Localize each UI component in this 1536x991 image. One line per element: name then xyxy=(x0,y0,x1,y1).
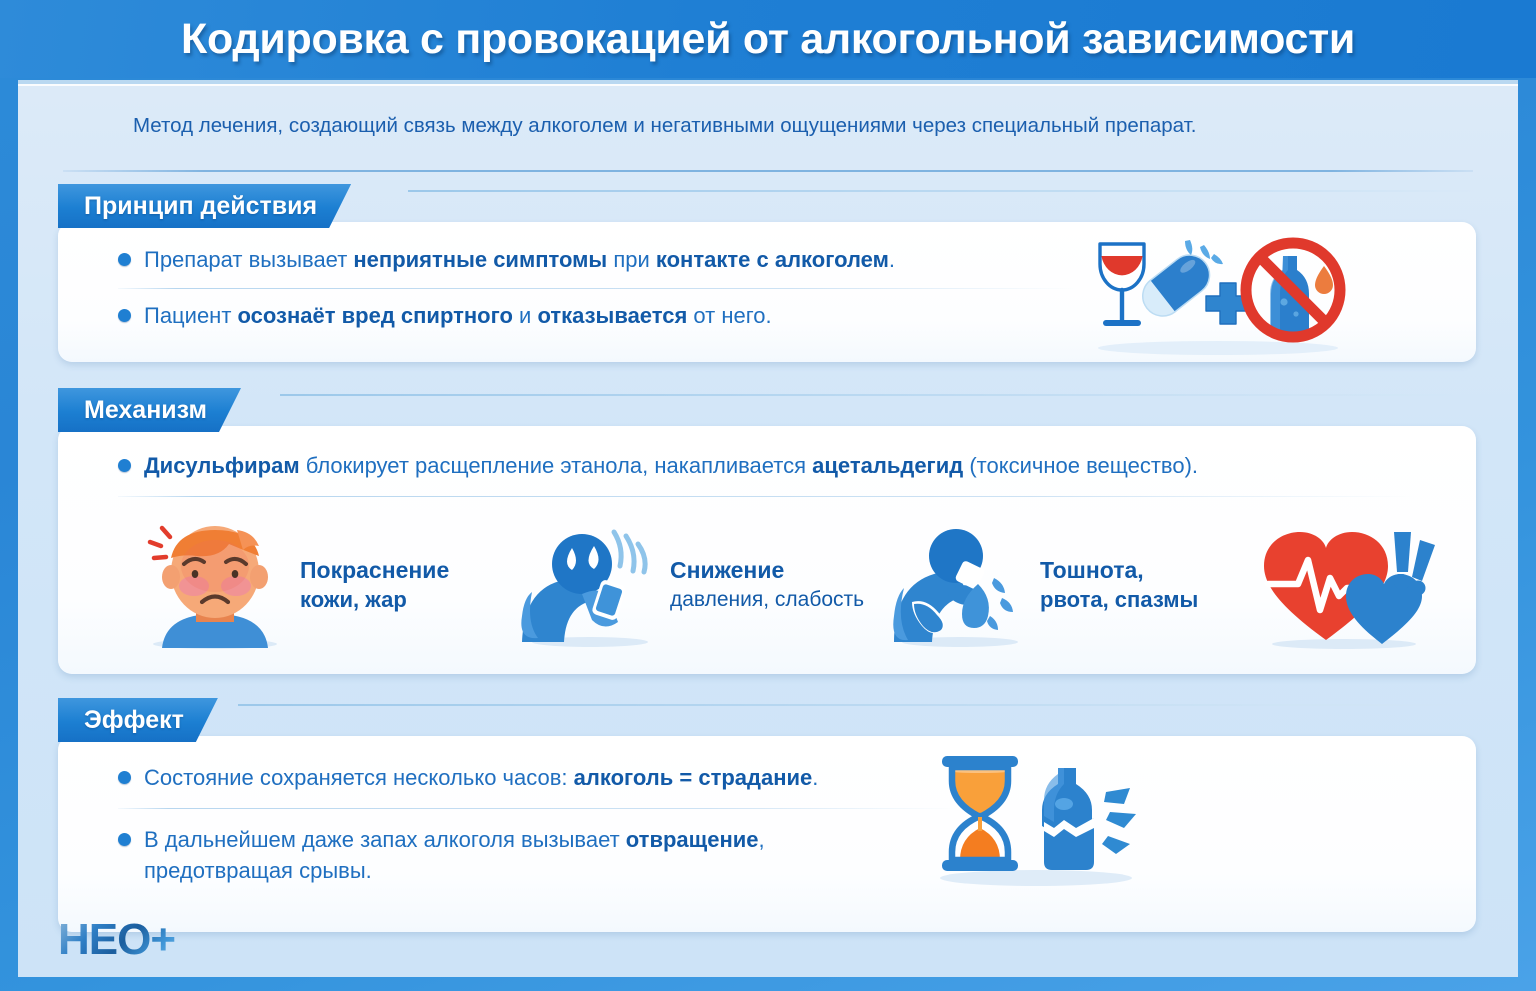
card-mechanism: Дисульфирам блокирует расщепление этанол… xyxy=(58,426,1476,674)
crack-burst-icon xyxy=(1102,788,1136,854)
bullet-dot-icon xyxy=(118,253,131,266)
hourglass-icon xyxy=(942,756,1018,871)
bullet-item: Дисульфирам блокирует расщепление этанол… xyxy=(118,450,1438,481)
symptom-label: Тошнота, рвота, спазмы xyxy=(1040,555,1198,615)
bullet-item: В дальнейшем даже запах алкоголя вызывае… xyxy=(118,824,1018,886)
splash-icon xyxy=(987,578,1013,630)
section-tab-effect[interactable]: Эффект xyxy=(58,698,218,742)
bullet-text: Дисульфирам блокирует расщепление этанол… xyxy=(144,450,1198,481)
wobble-lines-icon xyxy=(614,532,645,572)
bullet-dot-icon xyxy=(118,833,131,846)
bullet-divider xyxy=(118,496,1418,497)
bullet-dot-icon xyxy=(118,459,131,472)
symptom-label: Снижение давления, слабость xyxy=(670,555,864,615)
symptom-low-pressure: Снижение давления, слабость xyxy=(520,522,864,648)
intro-divider xyxy=(63,170,1473,172)
poster-root: Кодировка с провокацией от алкогольной з… xyxy=(0,0,1536,991)
wine-glass-icon xyxy=(1100,244,1144,323)
section-tab-label: Принцип действия xyxy=(84,192,317,221)
bullet-text: В дальнейшем даже запах алкоголя вызывае… xyxy=(144,824,765,886)
section-tab-label: Механизм xyxy=(84,396,207,425)
section-rule-effect xyxy=(238,704,1476,706)
page-title: Кодировка с провокацией от алкогольной з… xyxy=(181,15,1355,64)
section-tab-label: Эффект xyxy=(84,706,184,735)
symptom-label: Покраснение кожи, жар xyxy=(300,555,449,615)
section-tab-mechanism[interactable]: Механизм xyxy=(58,388,241,432)
dizzy-person-icon xyxy=(520,522,660,648)
no-alcohol-prohibition-icon xyxy=(1246,243,1340,337)
section-tab-principle[interactable]: Принцип действия xyxy=(58,184,351,228)
symptom-flushed-skin: Покраснение кожи, жар xyxy=(140,520,449,650)
bullet-dot-icon xyxy=(118,771,131,784)
symptom-heart-alert xyxy=(1258,526,1438,650)
bullet-item: Препарат вызывает неприятные симптомы пр… xyxy=(118,244,1118,275)
bullet-divider xyxy=(118,808,958,809)
bullet-text: Состояние сохраняется несколько часов: а… xyxy=(144,762,818,793)
section-rule-mechanism xyxy=(280,394,1476,396)
brand-logo: НЕО+ xyxy=(58,915,175,965)
title-bar: Кодировка с провокацией от алкогольной з… xyxy=(0,0,1536,78)
heat-lines-icon xyxy=(150,528,170,558)
broken-bottle-icon xyxy=(1042,768,1094,870)
card-principle: Препарат вызывает неприятные симптомы пр… xyxy=(58,222,1476,362)
bullet-item: Пациент осознаёт вред спиртного и отказы… xyxy=(118,300,1118,331)
bullet-item: Состояние сохраняется несколько часов: а… xyxy=(118,762,1018,793)
bullet-text: Препарат вызывает неприятные симптомы пр… xyxy=(144,244,895,275)
principle-illustration xyxy=(1078,226,1358,358)
bullet-divider xyxy=(118,288,1078,289)
card-effect: Состояние сохраняется несколько часов: а… xyxy=(58,736,1476,932)
capsule-pill-icon xyxy=(1135,247,1218,324)
intro-text: Метод лечения, создающий связь между алк… xyxy=(133,112,1463,140)
vomiting-person-icon xyxy=(890,522,1030,648)
section-rule-principle xyxy=(408,190,1476,192)
exclamation-marks-icon xyxy=(1394,532,1435,596)
bullet-text: Пациент осознаёт вред спиртного и отказы… xyxy=(144,300,772,331)
symptom-nausea: Тошнота, рвота, спазмы xyxy=(890,522,1198,648)
content-panel: Метод лечения, создающий связь между алк… xyxy=(18,80,1518,977)
heartbeat-alert-icon xyxy=(1258,526,1438,650)
flushed-face-icon xyxy=(140,520,290,650)
bullet-dot-icon xyxy=(118,309,131,322)
effect-illustration xyxy=(928,748,1158,888)
